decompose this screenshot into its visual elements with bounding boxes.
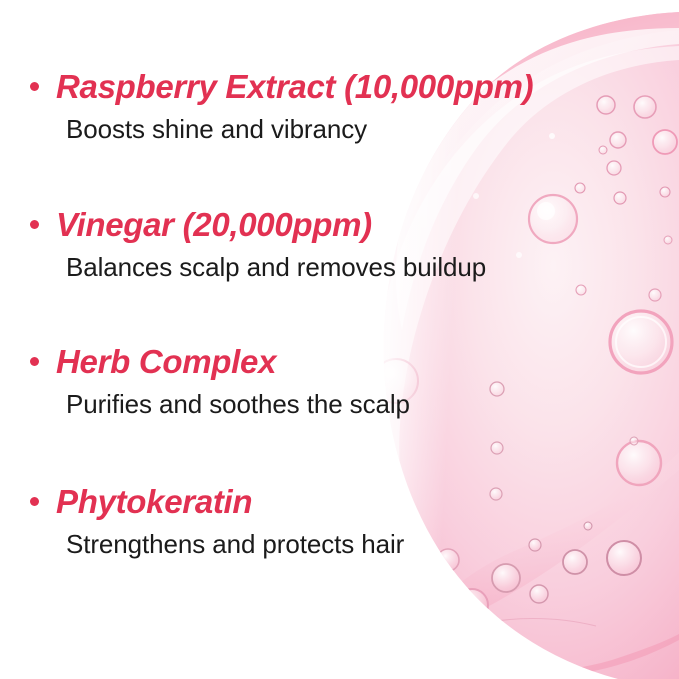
ingredient-list: Raspberry Extract (10,000ppm) Boosts shi… — [0, 0, 679, 679]
feature-heading-row: Herb Complex — [30, 345, 650, 378]
feature-heading-row: Raspberry Extract (10,000ppm) — [30, 70, 650, 103]
feature-item: Herb Complex Purifies and soothes the sc… — [30, 345, 650, 420]
feature-subtext: Purifies and soothes the scalp — [66, 390, 650, 420]
feature-item: Vinegar (20,000ppm) Balances scalp and r… — [30, 208, 650, 283]
feature-heading: Herb Complex — [56, 345, 276, 378]
feature-subtext: Boosts shine and vibrancy — [66, 115, 650, 145]
feature-heading-row: Vinegar (20,000ppm) — [30, 208, 650, 241]
feature-subtext: Strengthens and protects hair — [66, 530, 650, 560]
feature-item: Phytokeratin Strengthens and protects ha… — [30, 485, 650, 560]
feature-item: Raspberry Extract (10,000ppm) Boosts shi… — [30, 70, 650, 145]
feature-heading: Phytokeratin — [56, 485, 252, 518]
bullet-dot-icon — [30, 497, 39, 506]
feature-heading: Vinegar (20,000ppm) — [56, 208, 372, 241]
bullet-dot-icon — [30, 357, 39, 366]
feature-heading-row: Phytokeratin — [30, 485, 650, 518]
bullet-dot-icon — [30, 82, 39, 91]
product-ingredient-infographic: Raspberry Extract (10,000ppm) Boosts shi… — [0, 0, 679, 679]
feature-subtext: Balances scalp and removes buildup — [66, 253, 650, 283]
feature-heading: Raspberry Extract (10,000ppm) — [56, 70, 533, 103]
bullet-dot-icon — [30, 220, 39, 229]
